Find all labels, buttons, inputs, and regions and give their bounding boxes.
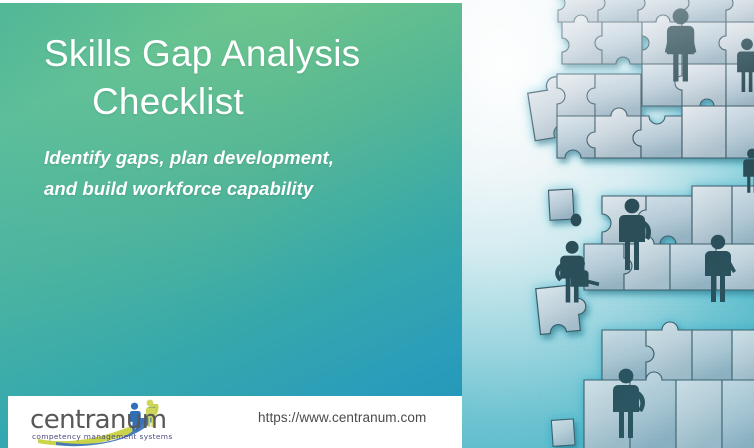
logo-wordmark: centranum [30,405,166,435]
page-subtitle: Identify gaps, plan development, and bui… [44,142,444,204]
logo-tagline: competency management systems [32,432,173,441]
image-vignette [462,0,754,448]
page-subtitle-line-1: Identify gaps, plan development, [44,142,444,173]
page-title-line-1: Skills Gap Analysis [44,30,444,78]
page-title-line-2: Checklist [44,78,444,126]
page-subtitle-line-2: and build workforce capability [44,173,444,204]
top-white-strip [0,0,462,3]
footer-bar: centranum competency management systems … [8,396,462,448]
slide-canvas: Skills Gap Analysis Checklist Identify g… [0,0,754,448]
centranum-logo[interactable]: centranum competency management systems [20,399,190,447]
page-title: Skills Gap Analysis Checklist [44,30,444,126]
website-url[interactable]: https://www.centranum.com [258,410,426,425]
jigsaw-puzzle-people-image [462,0,754,448]
